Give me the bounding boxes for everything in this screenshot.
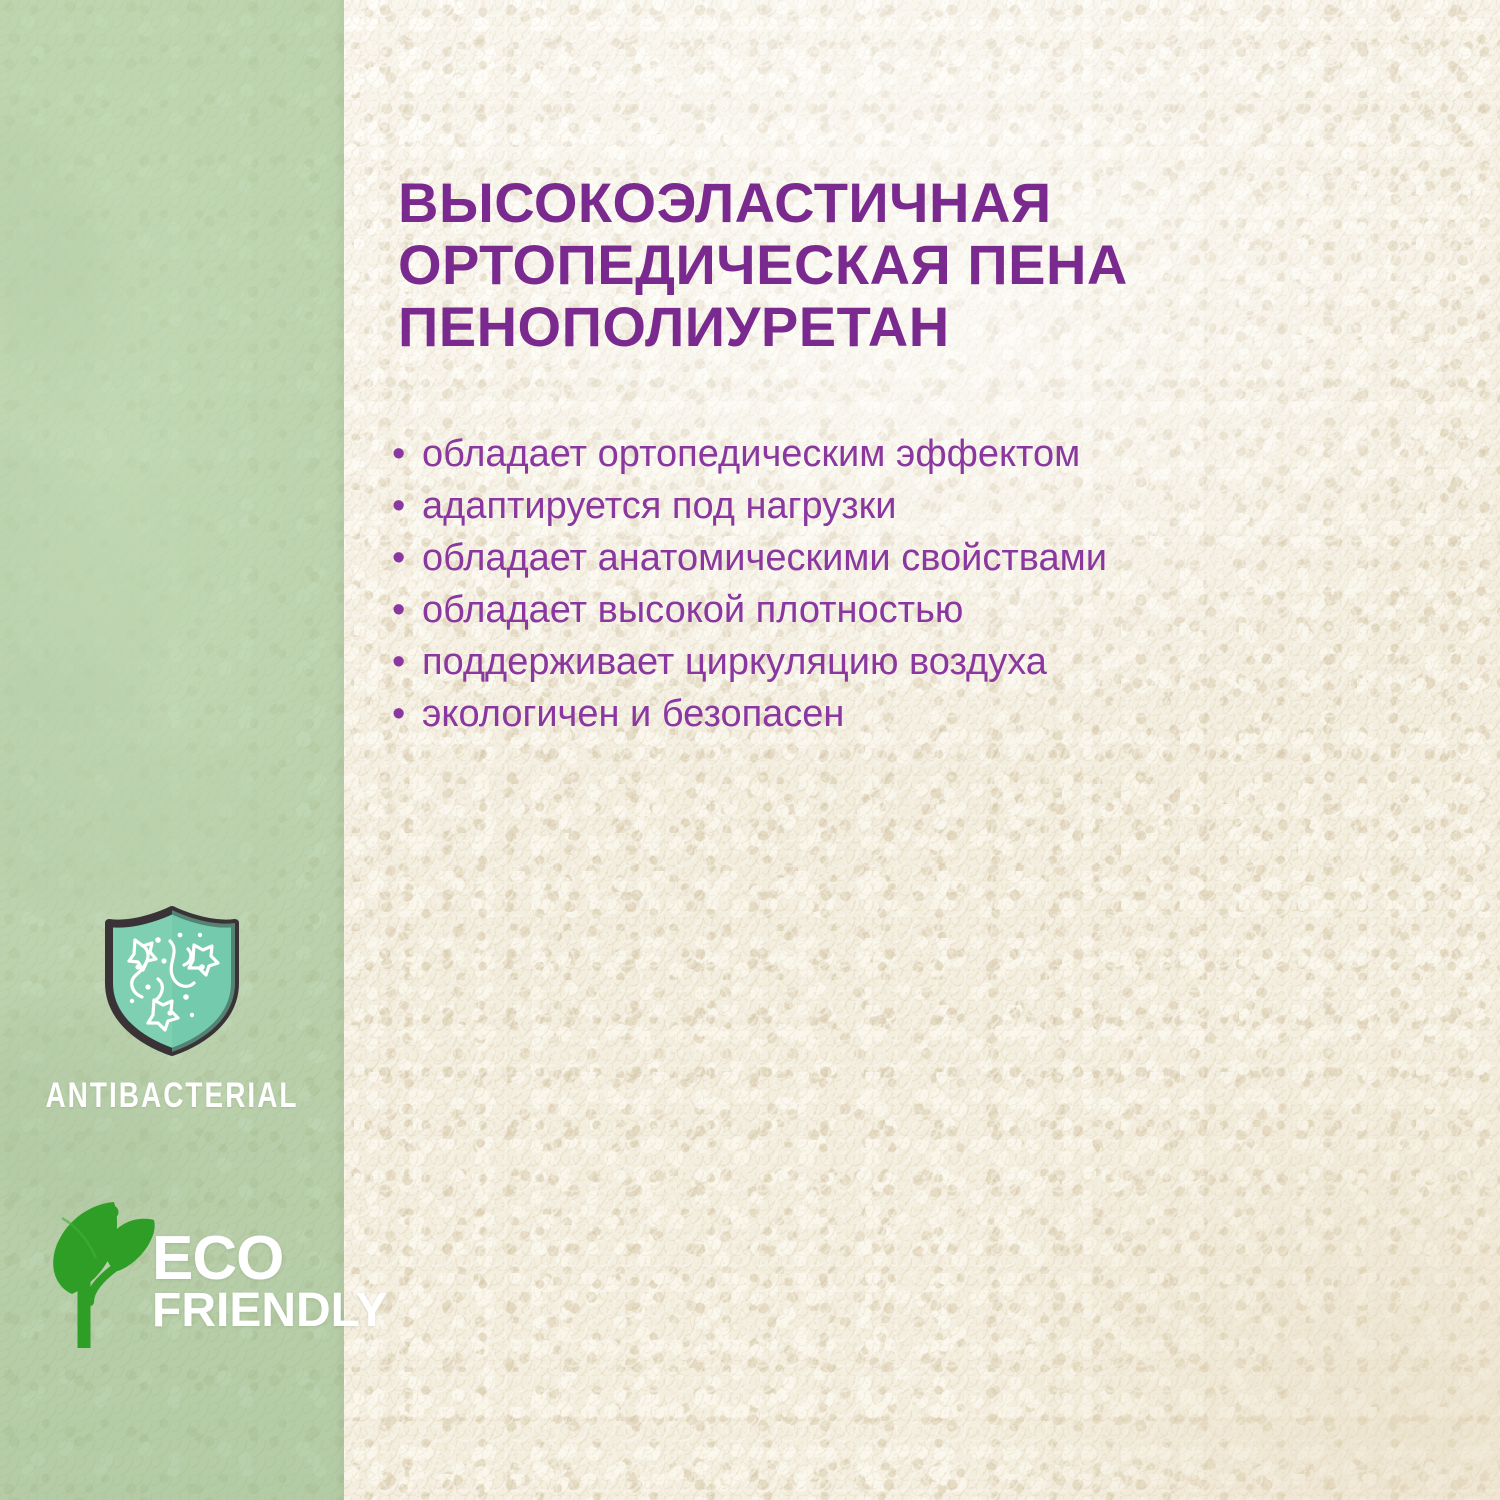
bullet-icon: • [392, 428, 422, 480]
list-item-label: экологичен и безопасен [422, 688, 1452, 740]
list-item-label: обладает анатомическими свойствами [422, 532, 1452, 584]
content-column: ВЫСОКОЭЛАСТИЧНАЯ ОРТОПЕДИЧЕСКАЯ ПЕНА ПЕН… [344, 0, 1500, 1500]
list-item-label: поддерживает циркуляцию воздуха [422, 636, 1452, 688]
leaf-sprout-icon [28, 1198, 158, 1353]
list-item: • обладает высокой плотностью [392, 584, 1452, 636]
list-item: • обладает анатомическими свойствами [392, 532, 1452, 584]
bullet-icon: • [392, 584, 422, 636]
antibacterial-label: ANTIBACTERIAL [34, 1076, 309, 1116]
badge-eco-friendly: ECO FRIENDLY [28, 1196, 344, 1353]
list-item: • адаптируется под нагрузки [392, 480, 1452, 532]
bullet-icon: • [392, 688, 422, 740]
list-item-label: обладает ортопедическим эффектом [422, 428, 1452, 480]
bullet-icon: • [392, 480, 422, 532]
page-title-line-3: ПЕНОПОЛИУРЕТАН [398, 296, 1428, 358]
list-item: • обладает ортопедическим эффектом [392, 428, 1452, 480]
list-item: • поддерживает циркуляцию воздуха [392, 636, 1452, 688]
list-item-label: адаптируется под нагрузки [422, 480, 1452, 532]
page-title: ВЫСОКОЭЛАСТИЧНАЯ ОРТОПЕДИЧЕСКАЯ ПЕНА ПЕН… [398, 172, 1428, 358]
page-title-line-1: ВЫСОКОЭЛАСТИЧНАЯ [398, 172, 1428, 234]
product-infographic-canvas: ANTIBACTERIAL ECO FRIENDLY ВЫСОКОЭЛАСТИЧ… [0, 0, 1500, 1500]
bullet-icon: • [392, 532, 422, 584]
bullet-icon: • [392, 636, 422, 688]
badge-antibacterial: ANTIBACTERIAL [0, 905, 344, 1116]
feature-list: • обладает ортопедическим эффектом • ада… [392, 428, 1452, 740]
list-item-label: обладает высокой плотностью [422, 584, 1452, 636]
shield-sparkle-icon [0, 905, 344, 1062]
page-title-line-2: ОРТОПЕДИЧЕСКАЯ ПЕНА [398, 234, 1428, 296]
list-item: • экологичен и безопасен [392, 688, 1452, 740]
